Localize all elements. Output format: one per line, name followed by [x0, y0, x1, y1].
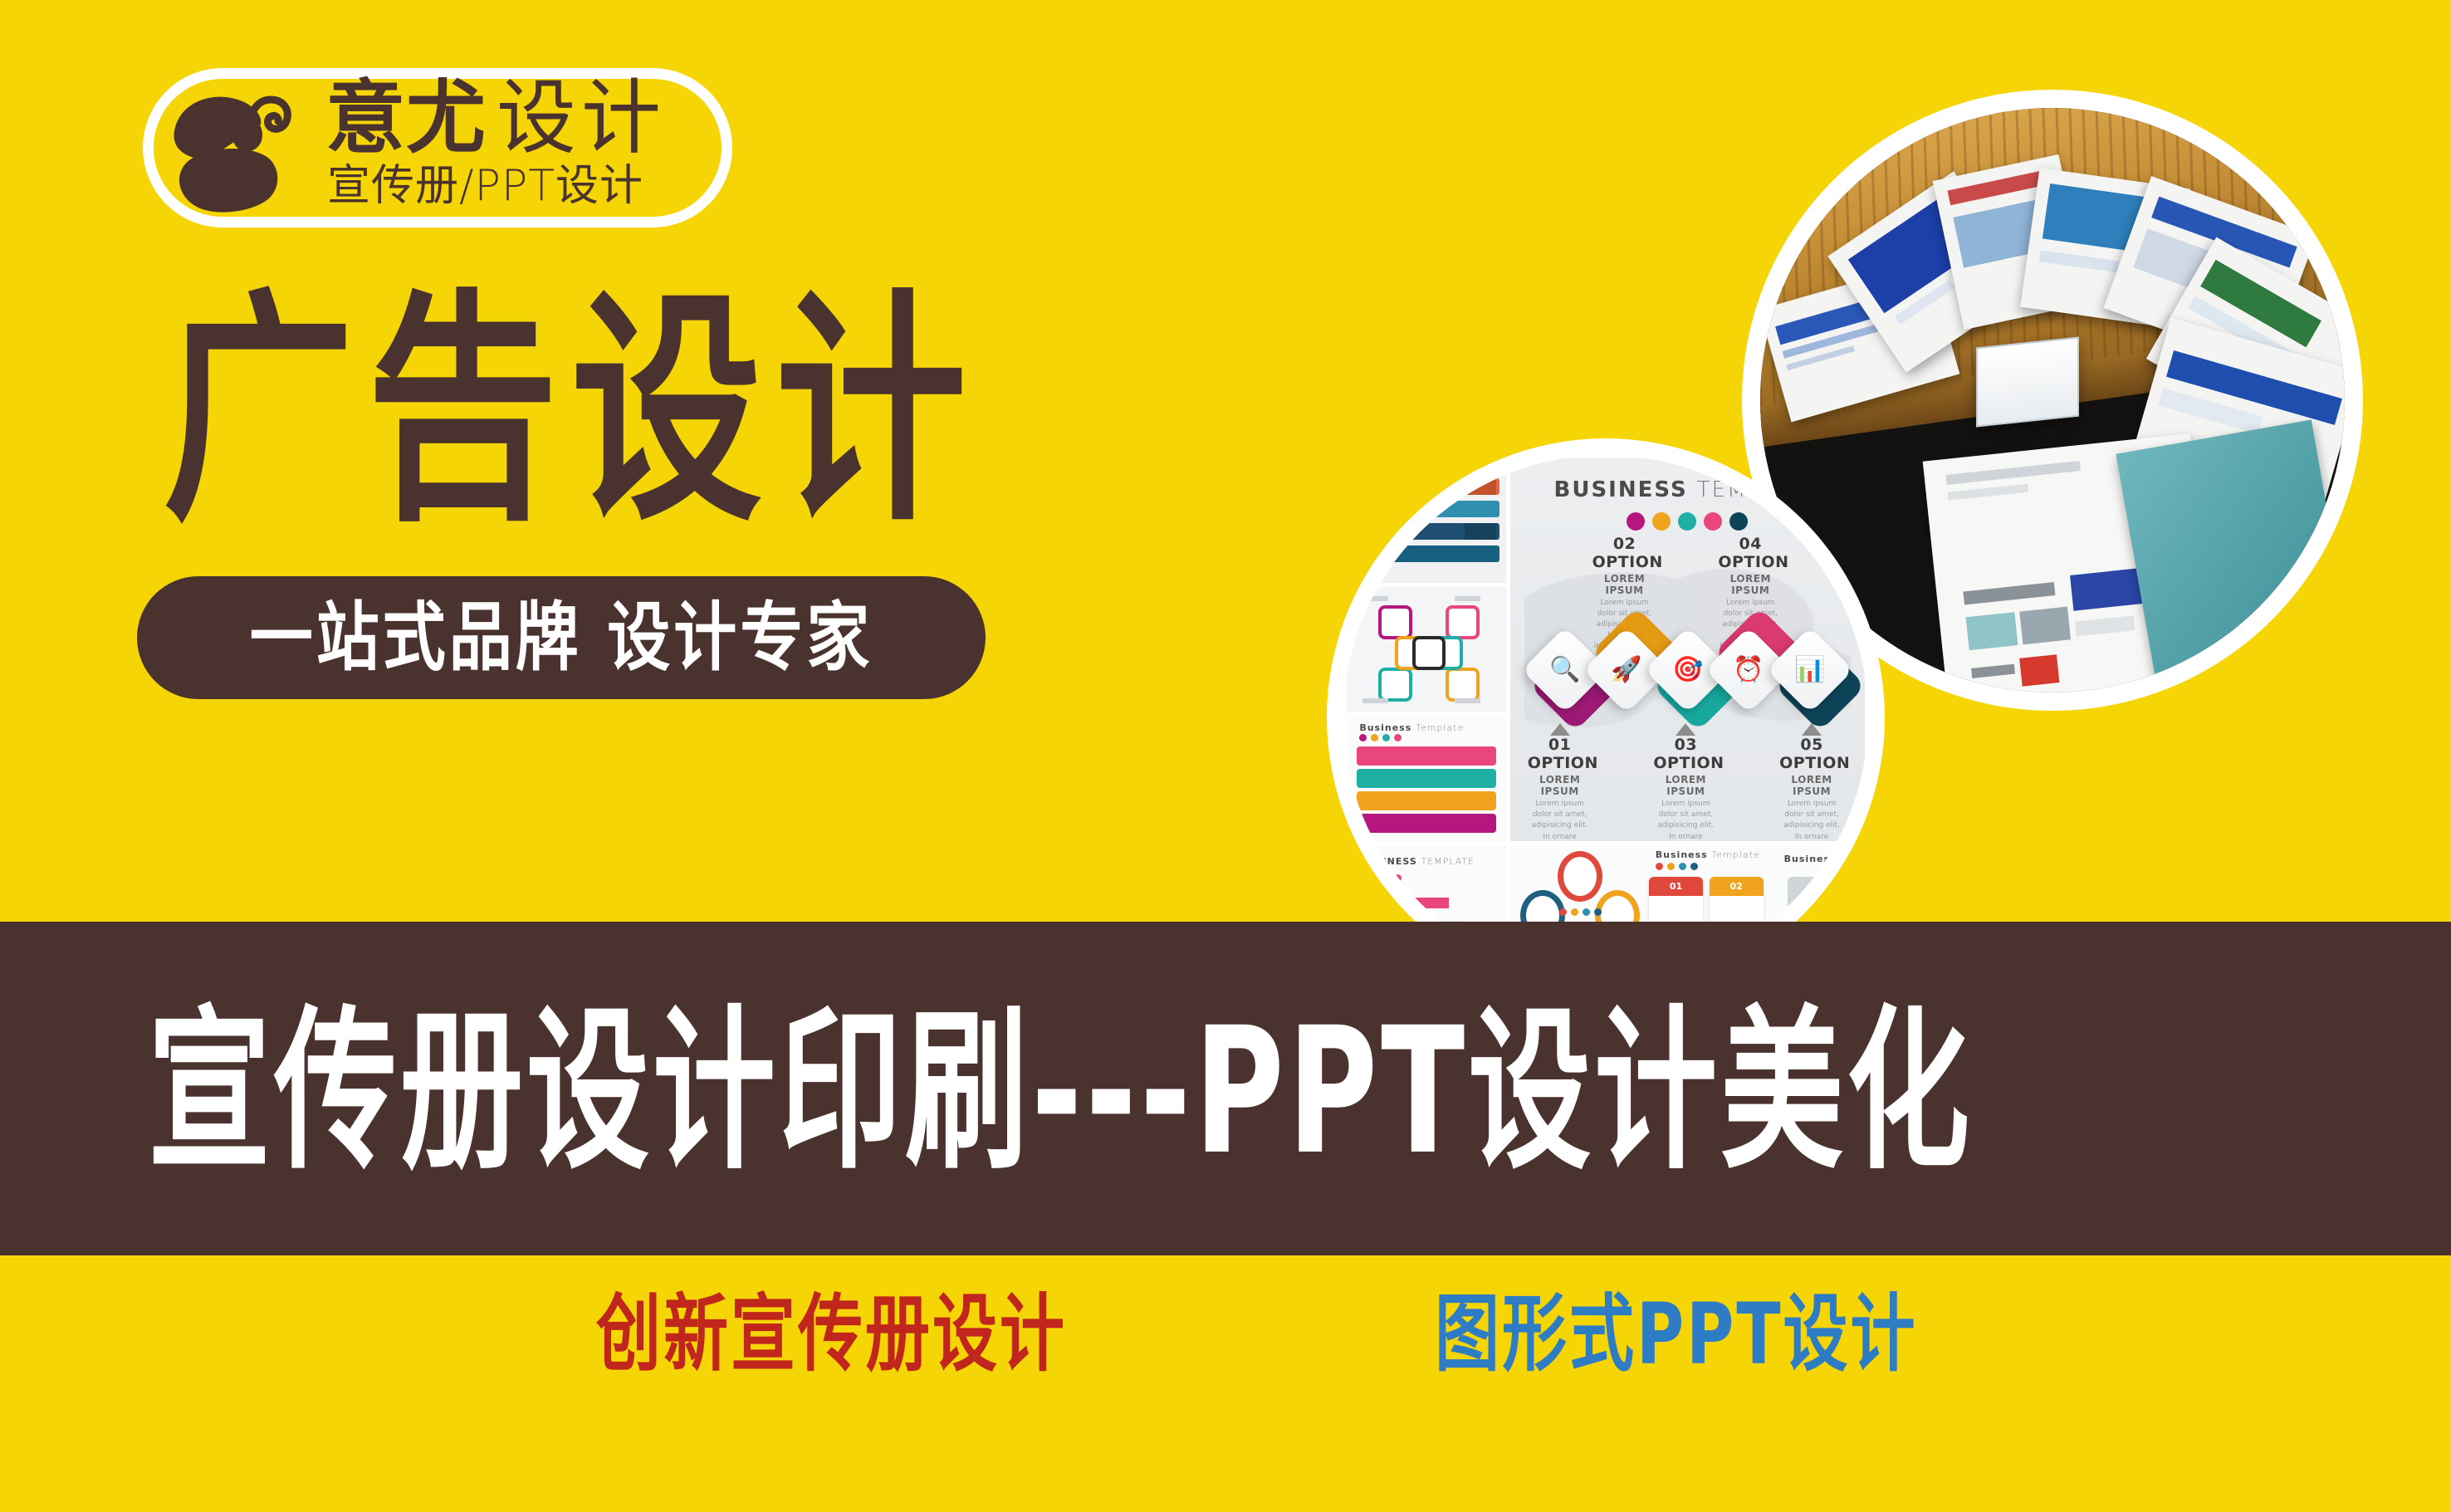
- footer-labels: 创新宣传册设计 图形式PPT设计: [0, 1289, 2451, 1438]
- people-chart-icon: 📊: [1794, 658, 1825, 683]
- template-title-bold: BUSINESS: [1554, 477, 1688, 502]
- tagline-pill: 一站式品牌 设计专家: [137, 576, 986, 699]
- ribbon-banner-template: [1347, 458, 1506, 583]
- thumb-title: Business Template: [1359, 722, 1464, 733]
- option-body: Lorem ipsum dolor sit amet, adipisicing …: [1779, 799, 1844, 841]
- triangle-up-icon: [1550, 723, 1570, 736]
- center-node: [1412, 636, 1446, 670]
- logo-name-bold: 意尤: [325, 78, 487, 158]
- page-title: 广告设计: [163, 291, 980, 535]
- node: [1446, 605, 1480, 639]
- thumb-dot-row: [1359, 874, 1402, 882]
- funnel-row-04: [1357, 814, 1497, 833]
- option-label: 01 OPTION: [1528, 736, 1592, 772]
- rocket-icon: 🚀: [1611, 658, 1641, 683]
- poster-canvas: 意尤 设计 宣传册/PPT设计 广告设计 一站式品牌 设计专家: [0, 0, 2451, 1512]
- logo-tagline: 宣传册/PPT设计: [327, 163, 643, 209]
- option-05-label: 05 OPTION LOREM IPSUM Lorem ipsum dolor …: [1779, 720, 1844, 841]
- funnel-row-02: [1357, 769, 1497, 788]
- template-dot-row: [1510, 512, 1865, 531]
- template-title: BUSINESS TEMPLATE: [1510, 477, 1865, 502]
- step-card-label: 02: [1710, 877, 1764, 896]
- option-label: 02 OPTION: [1592, 535, 1657, 571]
- logo-name-line: 意尤 设计: [325, 65, 666, 158]
- dot-4: [1704, 512, 1722, 531]
- step-card-label: 01: [1649, 877, 1703, 896]
- option-03-label: 03 OPTION LOREM IPSUM Lorem ipsum dolor …: [1653, 720, 1718, 841]
- template-title-light: TEMPLATE: [1697, 477, 1822, 502]
- thumb-title: Business Template: [1656, 849, 1760, 860]
- pyramid-funnel-template: Business Template: [1347, 717, 1506, 841]
- option-body: Lorem ipsum dolor sit amet, adipisicing …: [1528, 799, 1592, 841]
- cross-node-template: [1347, 587, 1506, 712]
- logo-wordmark: 意尤 设计 宣传册/PPT设计: [325, 65, 724, 231]
- dot-3: [1678, 512, 1696, 531]
- option-sub: LOREM IPSUM: [1653, 774, 1718, 797]
- funnel-row-03: [1357, 791, 1497, 810]
- world-map-option-template: BUSINESS TEMPLATE 02 OPTION: [1510, 458, 1865, 841]
- thumb-title: BUSINESS TEMPLATE: [1359, 856, 1475, 867]
- teal-brochure-edge: [2116, 420, 2345, 685]
- dot-1: [1627, 512, 1645, 531]
- alarm-clock-icon: ⏰: [1734, 658, 1764, 683]
- option-body: Lorem ipsum dolor sit amet, adipisicing …: [1653, 799, 1718, 841]
- option-sub: LOREM IPSUM: [1528, 774, 1592, 797]
- dot-2: [1652, 512, 1671, 531]
- footer-label-ppt: 图形式PPT设计: [1435, 1289, 1918, 1382]
- funnel-row-01: [1357, 746, 1497, 766]
- option-group: 02 OPTION LOREM IPSUM Lorem ipsum dolor …: [1517, 535, 1857, 772]
- footer-label-brochure: 创新宣传册设计: [596, 1289, 1067, 1382]
- logo-name-light: 设计: [497, 77, 666, 159]
- node: [1446, 668, 1480, 702]
- templates-clip: BUSINESS TEMPLATE 02 OPTION: [1343, 455, 1868, 980]
- node: [1378, 668, 1412, 702]
- node: [1378, 605, 1412, 639]
- ppt-templates-circle: BUSINESS TEMPLATE 02 OPTION: [1327, 438, 1885, 996]
- option-label: 03 OPTION: [1653, 736, 1718, 772]
- option-01-label: 01 OPTION LOREM IPSUM Lorem ipsum dolor …: [1528, 720, 1592, 841]
- option-label: 04 OPTION: [1718, 535, 1783, 571]
- option-label: 05 OPTION: [1779, 736, 1844, 772]
- leaf-sprout-logo-mark: [163, 80, 304, 213]
- magnifier-icon: 🔍: [1549, 658, 1580, 683]
- thumb-title: Business: [1784, 854, 1837, 864]
- tagline-pill-label: 一站式品牌 设计专家: [250, 599, 873, 676]
- ppt-infographic-templates-collage: BUSINESS TEMPLATE 02 OPTION: [1343, 455, 1868, 980]
- business-card-holder: [1976, 336, 2079, 427]
- option-sub: LOREM IPSUM: [1779, 774, 1844, 797]
- banner-headline: 宣传册设计印刷---PPT设计美化: [148, 1003, 1973, 1180]
- option-sub: LOREM IPSUM: [1718, 573, 1783, 596]
- thumb-dot-row: [1359, 734, 1402, 741]
- cycle-dot-row: [1559, 908, 1602, 916]
- triangle-up-icon: [1676, 723, 1695, 736]
- target-icon: 🎯: [1672, 658, 1703, 683]
- triangle-up-icon: [1802, 723, 1822, 736]
- thumb-dot-row: [1656, 863, 1698, 870]
- dot-5: [1729, 512, 1748, 531]
- cycle-node-01: [1558, 851, 1602, 902]
- option-sub: LOREM IPSUM: [1592, 573, 1657, 596]
